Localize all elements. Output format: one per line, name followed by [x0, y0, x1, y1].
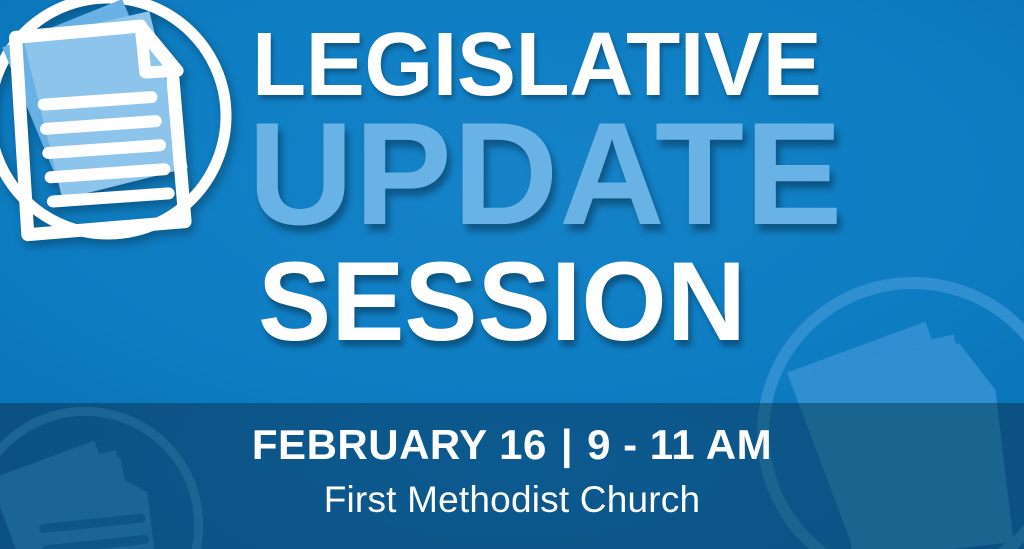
headline-line-session: SESSION [258, 246, 746, 358]
event-time: 9 - 11 AM [587, 421, 772, 468]
documents-circle-icon [0, 0, 252, 278]
headline-block: LEGISLATIVE UPDATE SESSION [248, 0, 1024, 403]
event-date-time: FEBRUARY 16|9 - 11 AM [0, 421, 1024, 469]
event-venue: First Methodist Church [0, 479, 1024, 521]
legislative-update-banner: LEGISLATIVE UPDATE SESSION FEBRUARY 16|9… [0, 0, 1024, 549]
date-time-separator: | [547, 421, 587, 469]
event-date: FEBRUARY 16 [252, 421, 547, 468]
event-details-block: FEBRUARY 16|9 - 11 AM First Methodist Ch… [0, 403, 1024, 549]
headline-line-update: UPDATE [248, 101, 843, 247]
